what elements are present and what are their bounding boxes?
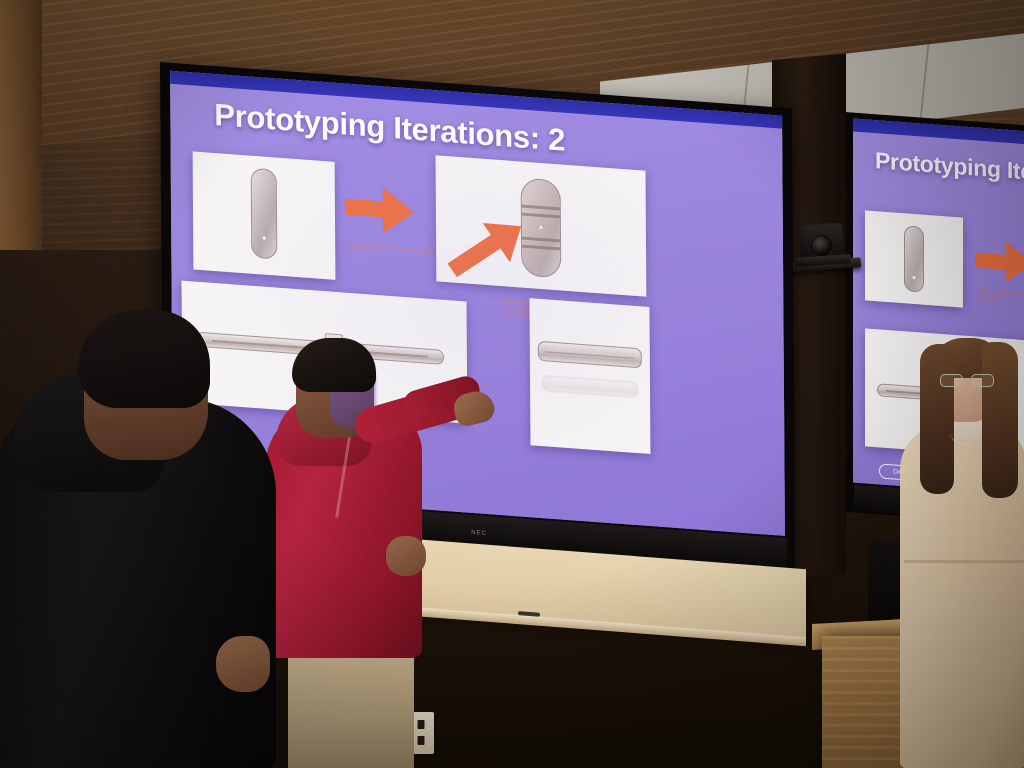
pill-prototype-v2-banded-icon [521,177,562,278]
arrow-top-caption-2: Adding supports and attachment geometry [977,289,1024,309]
slide-panel-top-left [193,151,336,279]
clasped-hands [216,636,270,692]
slide-panel-bottom-right [529,298,650,454]
glasses-icon [940,374,996,387]
camera-lens-icon [810,234,832,256]
slide-panel-top-left-2 [865,210,963,307]
page-title-secondary: Prototyping Iterations: 2 [875,147,1024,215]
slide-panel-top-right [436,155,647,296]
pill-prototype-v1-icon [251,168,278,260]
screen-brand-label: NEC [471,530,487,537]
classroom-presentation-scene: Prototyping Iterations: 2 Adding support… [0,0,1024,768]
rail-device-reflection [542,375,638,398]
ptz-conference-camera [790,216,856,286]
rail-device-prototype-v2-icon [538,341,642,369]
gesturing-hand [386,536,426,576]
pill-prototype-v1-icon [904,225,924,292]
